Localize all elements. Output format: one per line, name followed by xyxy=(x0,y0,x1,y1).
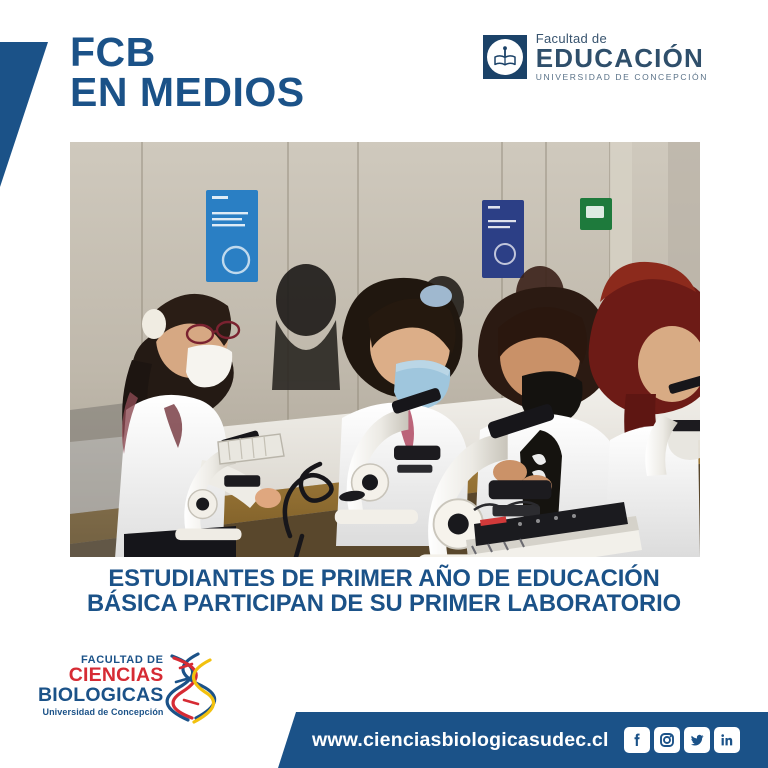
faculty-subtitle: UNIVERSIDAD DE CONCEPCIÓN xyxy=(536,73,708,82)
caption-line-2: BÁSICA PARTICIPAN DE SU PRIMER LABORATOR… xyxy=(12,591,757,616)
instagram-icon[interactable] xyxy=(654,727,680,753)
linkedin-icon[interactable] xyxy=(714,727,740,753)
blue-wedge-accent xyxy=(0,42,48,187)
laboratory-photo: 3 xyxy=(70,142,700,557)
poster-canvas: FCB EN MEDIOS Facultad de EDUCACIÓN UNIV… xyxy=(0,0,768,768)
book-torch-icon xyxy=(492,44,518,70)
fcb-subtitle: Universidad de Concepción xyxy=(42,708,163,717)
faculty-education-logo: Facultad de EDUCACIÓN UNIVERSIDAD DE CON… xyxy=(483,32,708,81)
emblem-circle xyxy=(487,39,523,75)
twitter-icon[interactable] xyxy=(684,727,710,753)
title-line-1: FCB xyxy=(70,32,305,72)
faculty-biological-sciences-logo: FACULTAD DE CIENCIAS BIOLOGICAS Universi… xyxy=(38,648,232,724)
laboratory-photo-illustration: 3 xyxy=(70,142,700,557)
book-torch-emblem xyxy=(483,35,527,79)
faculty-title: EDUCACIÓN xyxy=(536,46,708,71)
faculty-education-text: Facultad de EDUCACIÓN UNIVERSIDAD DE CON… xyxy=(536,32,708,81)
caption: ESTUDIANTES DE PRIMER AÑO DE EDUCACIÓN B… xyxy=(0,566,768,616)
social-links xyxy=(624,712,740,768)
fcb-line-2: BIOLOGICAS xyxy=(38,686,164,706)
title-line-2: EN MEDIOS xyxy=(70,72,305,112)
page-title: FCB EN MEDIOS xyxy=(70,32,305,112)
caption-line-1: ESTUDIANTES DE PRIMER AÑO DE EDUCACIÓN xyxy=(12,566,757,591)
fcb-logo-text: FACULTAD DE CIENCIAS BIOLOGICAS Universi… xyxy=(38,655,164,717)
facebook-icon[interactable] xyxy=(624,727,650,753)
website-url[interactable]: www.cienciasbiologicasudec.cl xyxy=(312,712,609,768)
dna-helix-icon xyxy=(158,648,232,724)
